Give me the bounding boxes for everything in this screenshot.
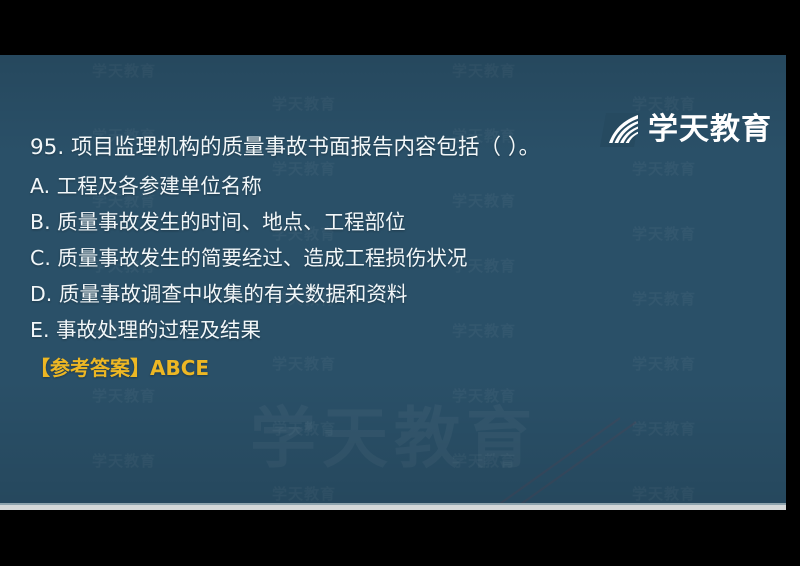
watermark-tile: 学天教育 xyxy=(632,93,696,114)
video-progress-fill xyxy=(0,505,786,510)
watermark-tile: 学天教育 xyxy=(272,483,336,504)
question-stem: 95. 项目监理机构的质量事故书面报告内容包括（ ）。 xyxy=(30,130,760,166)
option-d: D. 质量事故调查中收集的有关数据和资料 xyxy=(30,276,760,312)
watermark-tile: 学天教育 xyxy=(92,450,156,471)
watermark-tile: 学天教育 xyxy=(452,60,516,81)
letterbox-top xyxy=(0,0,800,55)
option-c: C. 质量事故发生的简要经过、造成工程损伤状况 xyxy=(30,240,760,276)
watermark-tile: 学天教育 xyxy=(632,483,696,504)
watermark-tile: 学天教育 xyxy=(92,385,156,406)
option-b: B. 质量事故发生的时间、地点、工程部位 xyxy=(30,204,760,240)
watermark-tile: 学天教育 xyxy=(92,60,156,81)
slide-stage: 学天教育 学天教育 学天教育 学天教育 学天教育 学天教育 学天教育 学天教育 … xyxy=(0,55,786,505)
watermark-tile: 学天教育 xyxy=(632,418,696,439)
letterbox-bottom xyxy=(0,510,800,566)
option-a: A. 工程及各参建单位名称 xyxy=(30,168,760,204)
watermark-large: 学天教育 xyxy=(250,385,538,481)
video-progress-bar[interactable] xyxy=(0,505,786,510)
question-content: 95. 项目监理机构的质量事故书面报告内容包括（ ）。 A. 工程及各参建单位名… xyxy=(30,130,760,385)
video-player-screen: 学天教育 学天教育 学天教育 学天教育 学天教育 学天教育 学天教育 学天教育 … xyxy=(0,0,800,566)
reference-answer: 【参考答案】ABCE xyxy=(30,351,760,385)
option-e: E. 事故处理的过程及结果 xyxy=(30,312,760,348)
watermark-tile: 学天教育 xyxy=(272,93,336,114)
letterbox-right xyxy=(786,0,800,566)
